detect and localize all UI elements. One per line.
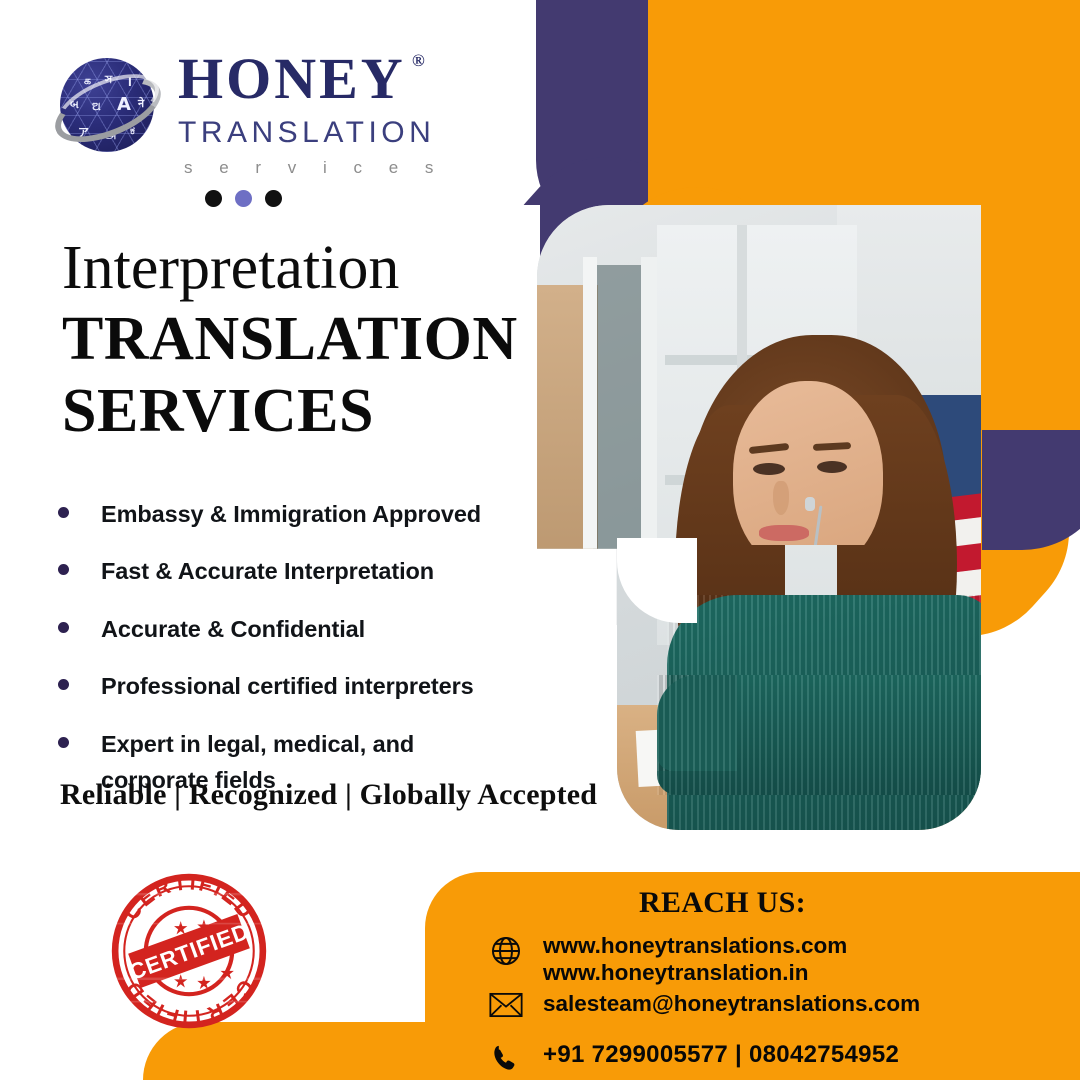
- list-item: Fast & Accurate Interpretation: [58, 553, 528, 589]
- logo-name-tertiary: s e r v i c e s: [178, 158, 444, 178]
- logo-name-secondary: TRANSLATION: [178, 116, 444, 150]
- bullet-icon: [58, 679, 69, 690]
- logo-name-primary: HONEY®: [178, 50, 406, 108]
- feature-text-2: Accurate & Confidential: [101, 611, 365, 647]
- feature-list: Embassy & Immigration Approved Fast & Ac…: [58, 496, 528, 820]
- contact-row-email[interactable]: salesteam@honeytranslations.com: [485, 990, 920, 1018]
- envelope-icon: [485, 990, 527, 1018]
- decorative-dots: [205, 190, 282, 207]
- logo-honey-text: HONEY: [178, 46, 406, 111]
- feature-text-1: Fast & Accurate Interpretation: [101, 553, 434, 589]
- website-secondary[interactable]: www.honeytranslation.in: [543, 959, 847, 986]
- tagline: Reliable | Recognized | Globally Accepte…: [60, 778, 597, 812]
- certified-stamp-icon: CERTIFIED CERTIFIED CERTIFIED: [106, 868, 272, 1034]
- dot-3: [265, 190, 282, 207]
- bullet-icon: [58, 564, 69, 575]
- list-item: Embassy & Immigration Approved: [58, 496, 528, 532]
- headline-bold-1: TRANSLATION: [62, 307, 518, 373]
- feature-text-3: Professional certified interpreters: [101, 668, 474, 704]
- bullet-icon: [58, 507, 69, 518]
- hero-photo: [537, 205, 981, 830]
- contact-heading: REACH US:: [425, 886, 1080, 920]
- feature-text-0: Embassy & Immigration Approved: [101, 496, 481, 532]
- registered-mark-icon: ®: [412, 52, 428, 69]
- bullet-icon: [58, 622, 69, 633]
- dot-2: [235, 190, 252, 207]
- list-item: Professional certified interpreters: [58, 668, 528, 704]
- globe-icon: [485, 932, 527, 968]
- headline-bold-2: SERVICES: [62, 379, 518, 445]
- brand-logo[interactable]: க স ا બ ଅ A ने ア அ ಕ HONEY® TRANSLATION …: [52, 44, 444, 178]
- bullet-icon: [58, 737, 69, 748]
- headline-block: Interpretation TRANSLATION SERVICES: [62, 236, 518, 445]
- purple-notch: [982, 430, 1080, 550]
- headline-script: Interpretation: [62, 236, 518, 301]
- phone-icon: [485, 1040, 527, 1076]
- globe-logo-icon: க স ا બ ଅ A ने ア அ ಕ: [52, 44, 164, 164]
- contact-row-phone[interactable]: +91 7299005577 | 08042754952: [485, 1040, 899, 1076]
- website-primary[interactable]: www.honeytranslations.com: [543, 932, 847, 959]
- phone-numbers[interactable]: +91 7299005577 | 08042754952: [543, 1040, 899, 1069]
- email-address[interactable]: salesteam@honeytranslations.com: [543, 990, 920, 1017]
- contact-row-website[interactable]: www.honeytranslations.com www.honeytrans…: [485, 932, 847, 987]
- contact-block: REACH US: www.honeytranslations.com www.…: [425, 872, 1080, 1080]
- list-item: Accurate & Confidential: [58, 611, 528, 647]
- dot-1: [205, 190, 222, 207]
- poster-canvas: க স ا બ ଅ A ने ア அ ಕ HONEY® TRANSLATION …: [0, 0, 1080, 1080]
